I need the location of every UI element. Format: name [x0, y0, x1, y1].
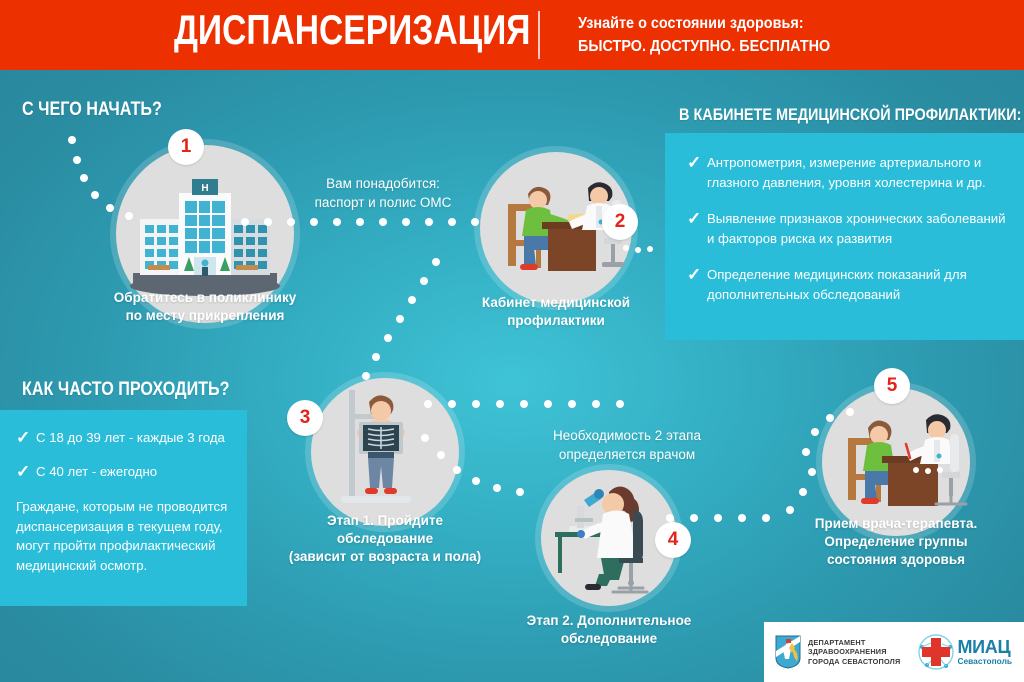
- list-item: ✓ С 40 лет - ежегодно: [16, 448, 235, 482]
- list-item: ✓ Определение медицинских показаний для …: [687, 248, 1010, 304]
- svg-text:H: H: [201, 183, 208, 194]
- medical-cross-icon: [917, 633, 955, 671]
- frequency-note: Граждане, которым не проводится диспансе…: [16, 497, 235, 575]
- xray-fluorography-icon: [311, 378, 459, 526]
- step-badge-4: 4: [655, 522, 691, 558]
- footer-logo-bar: ДЕПАРТАМЕНТ ЗДРАВООХРАНЕНИЯ ГОРОДА СЕВАС…: [764, 622, 1024, 682]
- miac-logo: МИАЦ Севастополь: [917, 633, 1012, 671]
- step-node-5: 5: [822, 388, 970, 536]
- therapist-consultation-icon: [822, 388, 970, 536]
- header-subtitle-line1: Узнайте о состоянии здоровья:: [578, 12, 950, 35]
- check-icon: ✓: [16, 428, 36, 447]
- cabinet-info-panel: ✓ Антропометрия, измерение артериального…: [665, 133, 1024, 340]
- step-caption-2: Кабинет медицинской профилактики: [436, 294, 676, 330]
- cabinet-bullet-1: Антропометрия, измерение артериального и…: [707, 153, 1010, 192]
- frequency-info-panel: ✓ С 18 до 39 лет - каждые 3 года ✓ С 40 …: [0, 410, 247, 606]
- header-bar: ДИСПАНСЕРИЗАЦИЯ Узнайте о состоянии здор…: [0, 0, 1024, 70]
- miac-text-block: МИАЦ Севастополь: [957, 639, 1012, 666]
- step-badge-2: 2: [602, 204, 638, 240]
- header-subtitle-line2: БЫСТРО. ДОСТУПНО. БЕСПЛАТНО: [578, 35, 950, 58]
- department-logo: ДЕПАРТАМЕНТ ЗДРАВООХРАНЕНИЯ ГОРОДА СЕВАС…: [775, 635, 900, 669]
- step-node-4: 4: [541, 470, 677, 606]
- step-badge-1: 1: [168, 129, 204, 165]
- step-badge-5: 5: [874, 368, 910, 404]
- miac-title: МИАЦ: [957, 639, 1012, 656]
- step-node-3: 3: [311, 378, 459, 526]
- often-bullet-1: С 18 до 39 лет - каждые 3 года: [36, 428, 225, 448]
- check-icon: ✓: [687, 153, 707, 172]
- check-icon: ✓: [16, 462, 36, 481]
- infographic-poster: ДИСПАНСЕРИЗАЦИЯ Узнайте о состоянии здор…: [0, 0, 1024, 682]
- list-item: ✓ Антропометрия, измерение артериального…: [687, 133, 1010, 192]
- check-icon: ✓: [687, 265, 707, 284]
- often-bullet-2: С 40 лет - ежегодно: [36, 462, 157, 482]
- step-caption-3: Этап 1. Пройдите обследование (зависит о…: [265, 512, 505, 566]
- cabinet-bullet-2: Выявление признаков хронических заболева…: [707, 209, 1010, 248]
- step-badge-3: 3: [287, 400, 323, 436]
- list-item: ✓ С 18 до 39 лет - каждые 3 года: [16, 410, 235, 448]
- cabinet-bullet-3: Определение медицинских показаний для до…: [707, 265, 1010, 304]
- step-node-2: 2: [480, 152, 632, 304]
- header-subtitle: Узнайте о состоянии здоровья: БЫСТРО. ДО…: [578, 12, 978, 58]
- step-caption-5: Прием врача-терапевта. Определение групп…: [776, 515, 1016, 569]
- header-divider: [538, 11, 540, 59]
- page-title: ДИСПАНСЕРИЗАЦИЯ: [174, 6, 530, 54]
- list-item: ✓ Выявление признаков хронических заболе…: [687, 192, 1010, 248]
- section-heading-start: С ЧЕГО НАЧАТЬ?: [22, 99, 162, 121]
- miac-subtitle: Севастополь: [957, 656, 1012, 666]
- connector-text-documents: Вам понадобится: паспорт и полис ОМС: [268, 174, 498, 212]
- section-heading-cabinet: В КАБИНЕТЕ МЕДИЦИНСКОЙ ПРОФИЛАКТИКИ:: [679, 105, 1021, 125]
- section-heading-often: КАК ЧАСТО ПРОХОДИТЬ?: [22, 379, 230, 401]
- check-icon: ✓: [687, 209, 707, 228]
- step-caption-4: Этап 2. Дополнительное обследование: [489, 612, 729, 648]
- department-name: ДЕПАРТАМЕНТ ЗДРАВООХРАНЕНИЯ ГОРОДА СЕВАС…: [808, 638, 900, 667]
- step-caption-1: Обратитесь в поликлинику по месту прикре…: [45, 289, 365, 325]
- sevastopol-coat-of-arms: [775, 635, 801, 669]
- connector-text-stage2: Необходимость 2 этапа определяется врачо…: [512, 426, 742, 464]
